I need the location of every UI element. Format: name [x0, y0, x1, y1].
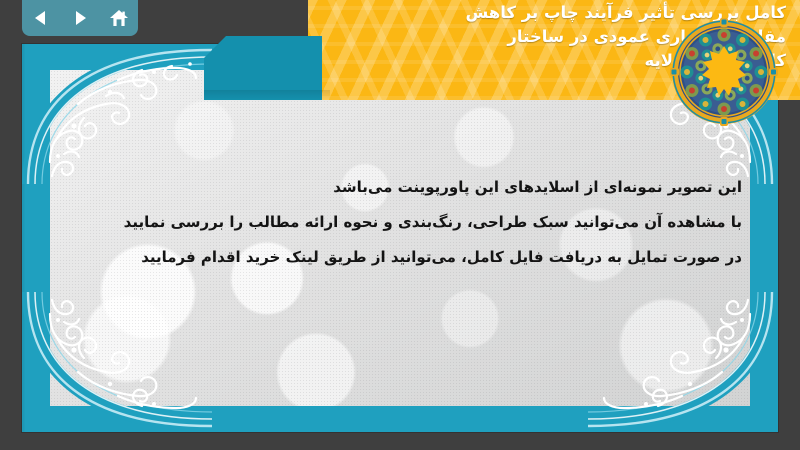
mandala-ornament-icon [670, 18, 778, 126]
home-icon [109, 9, 129, 28]
body-text-block: این تصویر نمونه‌ای از اسلایدهای این پاور… [42, 170, 742, 275]
body-line-3: در صورت تمایل به دریافت فایل کامل، می‌تو… [42, 240, 742, 275]
slide-stage: این تصویر نمونه‌ای از اسلایدهای این پاور… [0, 0, 800, 450]
prev-button[interactable] [26, 5, 56, 31]
slide-panel: این تصویر نمونه‌ای از اسلایدهای این پاور… [22, 44, 778, 432]
next-triangle-icon [71, 9, 89, 27]
next-button[interactable] [65, 5, 95, 31]
body-line-2: با مشاهده آن می‌توانید سبک طراحی، رنگ‌بن… [42, 205, 742, 240]
navigation-bar [22, 0, 138, 36]
banner-ribbon-shadow [204, 90, 330, 100]
body-line-1: این تصویر نمونه‌ای از اسلایدهای این پاور… [42, 170, 742, 205]
prev-triangle-icon [32, 9, 50, 27]
home-button[interactable] [104, 5, 134, 31]
